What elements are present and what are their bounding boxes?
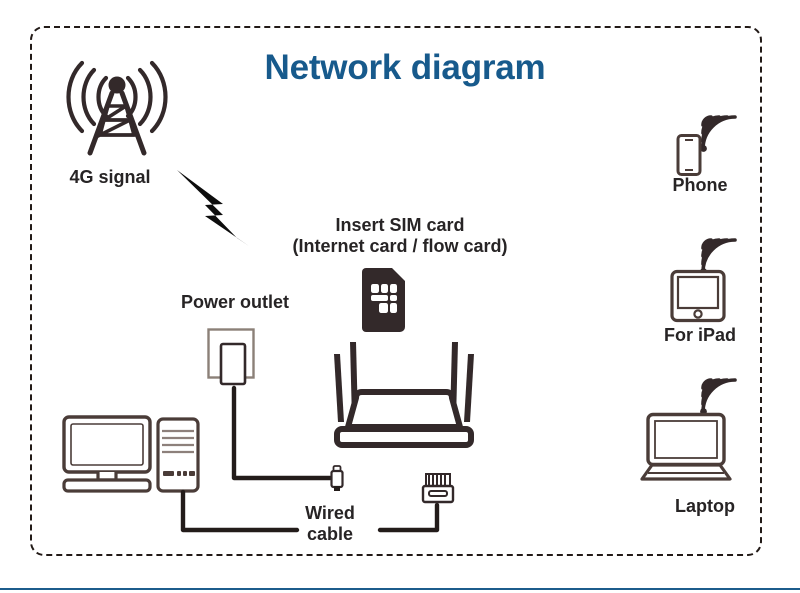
tablet-label: For iPad bbox=[635, 325, 765, 346]
phone-label: Phone bbox=[640, 175, 760, 196]
wired-cable-label-line2: cable bbox=[280, 524, 380, 545]
bottom-accent-rule bbox=[0, 588, 800, 590]
power-plug-icon bbox=[329, 466, 345, 492]
smartphone-icon bbox=[676, 134, 702, 176]
phone-wifi-arcs-icon bbox=[698, 112, 744, 154]
laptop-icon bbox=[638, 413, 734, 485]
laptop-wifi-arcs-icon bbox=[698, 375, 744, 417]
wired-cable-label: Wired cable bbox=[280, 503, 380, 545]
wired-cable-label-line1: Wired bbox=[280, 503, 380, 524]
tablet-icon bbox=[670, 270, 726, 322]
laptop-label: Laptop bbox=[630, 496, 780, 517]
network-diagram-canvas: Network diagram bbox=[0, 0, 800, 593]
rj45-connector-icon bbox=[418, 473, 458, 513]
